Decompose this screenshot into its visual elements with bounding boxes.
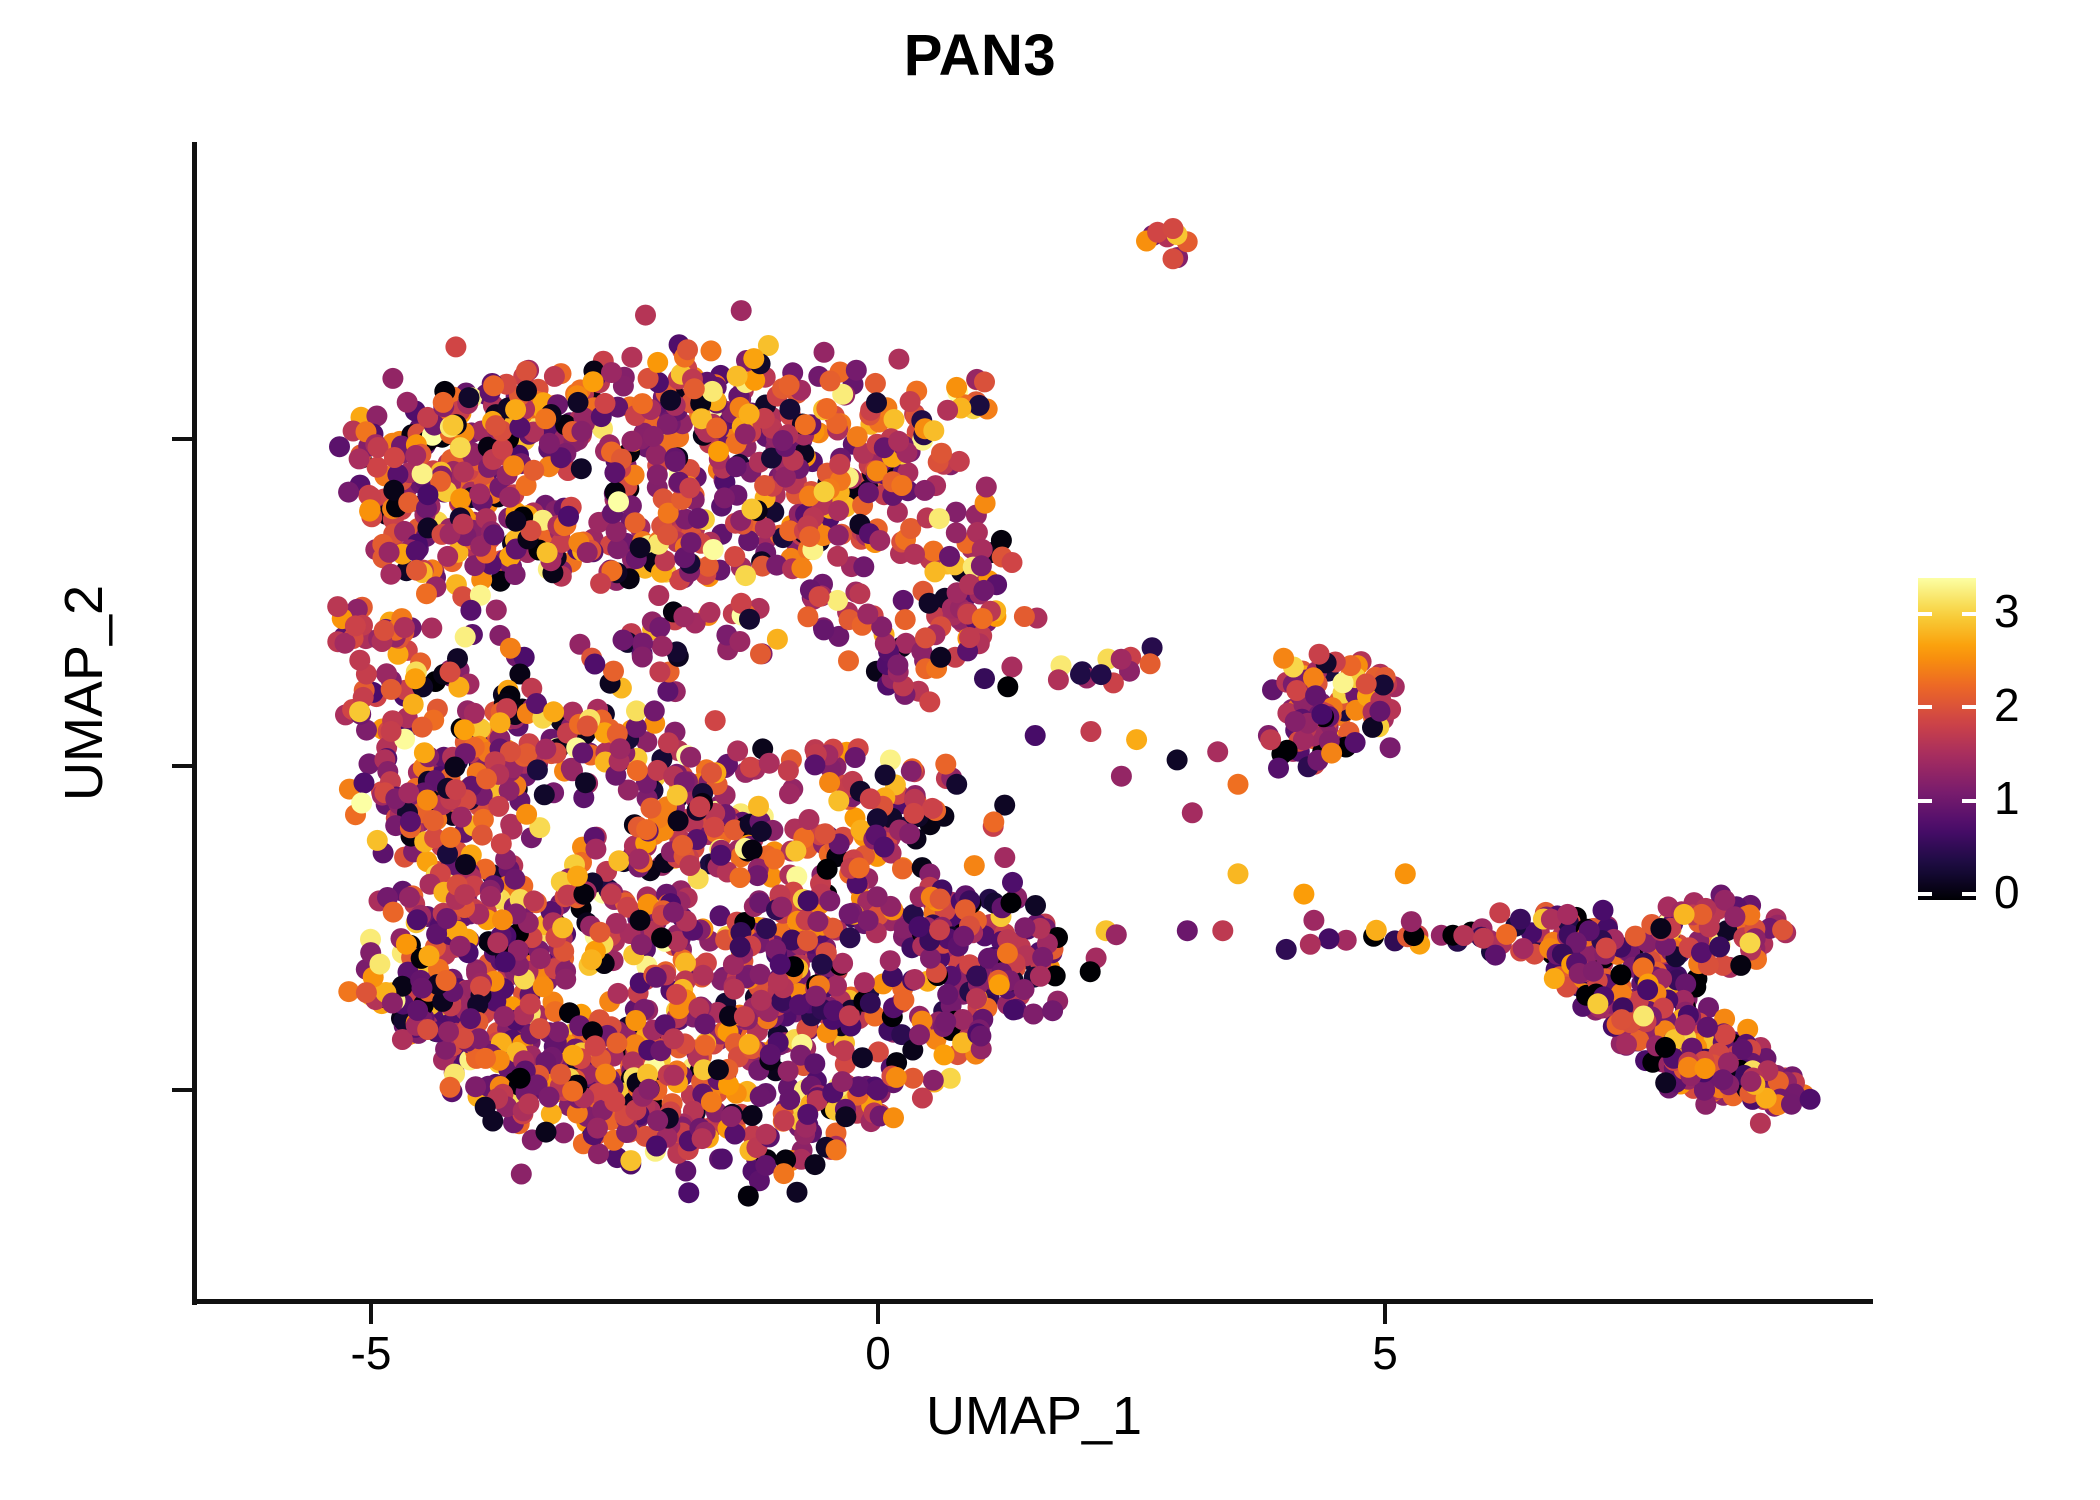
scatter-point [572, 742, 593, 763]
scatter-point [647, 352, 668, 373]
scatter-point [966, 988, 987, 1009]
scatter-point [812, 954, 833, 975]
scatter-point [470, 976, 491, 997]
scatter-point [797, 930, 818, 951]
scatter-point [407, 1000, 428, 1021]
scatter-point [349, 701, 370, 722]
colorbar-tick-0-right [1962, 892, 1976, 896]
scatter-point [646, 444, 667, 465]
scatter-point [1293, 884, 1314, 905]
scatter-point [417, 484, 438, 505]
scatter-point [816, 398, 837, 419]
scatter-point [829, 454, 850, 475]
scatter-point [1674, 904, 1695, 925]
scatter-point [840, 927, 861, 948]
scatter-point [708, 1059, 729, 1080]
scatter-point [460, 1008, 481, 1029]
scatter-point [374, 620, 395, 641]
scatter-point [791, 558, 812, 579]
scatter-point [577, 542, 598, 563]
scatter-point [724, 979, 745, 1000]
scatter-point [702, 381, 723, 402]
scatter-point [1048, 669, 1069, 690]
scatter-point [536, 1122, 557, 1143]
scatter-point [930, 889, 951, 910]
x-axis-title: UMAP_1 [195, 1385, 1873, 1447]
scatter-point [1655, 1072, 1676, 1093]
scatter-point [924, 561, 945, 582]
chart-root: PAN3 4 0 -4 -5 0 5 UMAP_1 UMAP_2 3 2 1 0 [0, 0, 2100, 1500]
scatter-point [1025, 725, 1046, 746]
scatter-point [923, 1070, 944, 1091]
scatter-point [764, 849, 785, 870]
scatter-point [974, 371, 995, 392]
scatter-point [742, 840, 763, 861]
scatter-point [964, 855, 985, 876]
scatter-point [558, 506, 579, 527]
y-tick-mark-neg4 [172, 1088, 192, 1092]
scatter-point [692, 1128, 713, 1149]
scatter-point [664, 1065, 685, 1086]
scatter-point [1544, 968, 1565, 989]
scatter-point [912, 1088, 933, 1109]
scatter-point [575, 772, 596, 793]
scatter-point [396, 934, 417, 955]
scatter-point [1695, 1058, 1716, 1079]
scatter-point [807, 911, 828, 932]
scatter-point [568, 392, 589, 413]
scatter-point [383, 902, 404, 923]
scatter-point [649, 661, 670, 682]
scatter-point [946, 522, 967, 543]
scatter-point [827, 590, 848, 611]
scatter-point [1633, 1006, 1654, 1027]
scatter-point [739, 1034, 760, 1055]
scatter-point [601, 884, 622, 905]
scatter-point [798, 890, 819, 911]
scatter-point [412, 463, 433, 484]
scatter-point [491, 833, 512, 854]
x-tick-mark-5 [1383, 1304, 1387, 1324]
scatter-point [751, 821, 772, 842]
scatter-point [440, 662, 461, 683]
scatter-point [535, 408, 556, 429]
scatter-point [500, 638, 521, 659]
scatter-point [647, 464, 668, 485]
scatter-point [1212, 920, 1233, 941]
scatter-point [1750, 1113, 1771, 1134]
scatter-point [852, 1047, 873, 1068]
scatter-point [886, 1067, 907, 1088]
scatter-point [397, 392, 418, 413]
scatter-point [754, 475, 775, 496]
scatter-point [891, 475, 912, 496]
scatter-point [1228, 774, 1249, 795]
scatter-point [454, 884, 475, 905]
scatter-point [893, 590, 914, 611]
scatter-point [914, 480, 935, 501]
scatter-point [380, 564, 401, 585]
scatter-point [1177, 920, 1198, 941]
scatter-point [423, 810, 444, 831]
scatter-point [455, 854, 476, 875]
scatter-point [1163, 248, 1184, 269]
scatter-point [646, 967, 667, 988]
scatter-point [354, 773, 375, 794]
scatter-point [1285, 711, 1306, 732]
scatter-point [636, 819, 657, 840]
scatter-point [398, 782, 419, 803]
scatter-point [530, 948, 551, 969]
scatter-point [516, 380, 537, 401]
scatter-point [869, 530, 890, 551]
scatter-point [1593, 900, 1614, 921]
scatter-point [412, 717, 433, 738]
scatter-point [857, 604, 878, 625]
scatter-point [588, 1143, 609, 1164]
scatter-point [695, 1035, 716, 1056]
scatter-point [539, 1087, 560, 1108]
scatter-point [509, 417, 530, 438]
scatter-point [730, 867, 751, 888]
scatter-point [814, 342, 835, 363]
scatter-point [966, 966, 987, 987]
scatter-point [663, 902, 684, 923]
scatter-point [887, 655, 908, 676]
scatter-point [475, 1097, 496, 1118]
scatter-point [727, 366, 748, 387]
scatter-point [701, 762, 722, 783]
scatter-point [444, 757, 465, 778]
scatter-point [865, 373, 886, 394]
scatter-point [503, 455, 524, 476]
scatter-point [499, 487, 520, 508]
scatter-point [805, 986, 826, 1007]
scatter-point [937, 400, 958, 421]
scatter-point [1106, 924, 1127, 945]
scatter-point [867, 886, 888, 907]
scatter-point [1369, 701, 1390, 722]
scatter-point [417, 1019, 438, 1040]
scatter-point [731, 300, 752, 321]
scatter-point [567, 866, 588, 887]
scatter-point [1596, 938, 1617, 959]
scatter-point [827, 546, 848, 567]
scatter-point [589, 922, 610, 943]
scatter-point [970, 1026, 991, 1047]
scatter-point [581, 949, 602, 970]
scatter-point [858, 910, 879, 931]
scatter-point [485, 415, 506, 436]
scatter-point [384, 447, 405, 468]
x-tick-label-0: 0 [798, 1330, 958, 1376]
scatter-point [440, 827, 461, 848]
scatter-point [487, 932, 508, 953]
scatter-point [606, 521, 627, 542]
scatter-point [684, 378, 705, 399]
scatter-point [714, 487, 735, 508]
scatter-point [989, 974, 1010, 995]
scatter-point [739, 609, 760, 630]
scatter-point [1025, 895, 1046, 916]
scatter-point [785, 841, 806, 862]
scatter-point [1557, 904, 1578, 925]
scatter-point [625, 512, 646, 533]
scatter-point [1675, 1014, 1696, 1035]
scatter-point [643, 426, 664, 447]
scatter-point [1276, 939, 1297, 960]
scatter-point [455, 627, 476, 648]
scatter-point [1616, 1034, 1637, 1055]
scatter-point [1014, 979, 1035, 1000]
scatter-point [627, 760, 648, 781]
scatter-point [880, 950, 901, 971]
scatter-point [438, 1021, 459, 1042]
y-axis-title: UMAP_2 [53, 343, 115, 1043]
scatter-point [606, 1033, 627, 1054]
scatter-point [740, 757, 761, 778]
scatter-point [412, 978, 433, 999]
scatter-point [1163, 218, 1184, 239]
scatter-point [884, 409, 905, 430]
scatter-point [516, 804, 537, 825]
scatter-point [608, 983, 629, 1004]
colorbar-label-1: 1 [1994, 775, 2020, 821]
scatter-point [693, 965, 714, 986]
scatter-point [421, 618, 442, 639]
colorbar-tick-0-left [1918, 892, 1932, 896]
scatter-point [1030, 966, 1051, 987]
scatter-point [888, 349, 909, 370]
scatter-point [1401, 911, 1422, 932]
scatter-point [621, 347, 642, 368]
scatter-point [814, 481, 835, 502]
scatter-point [804, 1053, 825, 1074]
scatter-point [1167, 749, 1188, 770]
scatter-point [750, 1086, 771, 1107]
scatter-point [660, 390, 681, 411]
scatter-point [901, 761, 922, 782]
scatter-point [631, 934, 652, 955]
scatter-point [583, 371, 604, 392]
scatter-point [1473, 928, 1494, 949]
scatter-point [739, 403, 760, 424]
scatter-point [751, 990, 772, 1011]
scatter-point [511, 1164, 532, 1185]
scatter-point [701, 1092, 722, 1113]
scatter-point [1001, 892, 1022, 913]
scatter-point [436, 908, 457, 929]
scatter-point [1207, 741, 1228, 762]
scatter-point [819, 890, 840, 911]
scatter-point [915, 627, 936, 648]
scatter-point [585, 839, 606, 860]
scatter-point [379, 542, 400, 563]
scatter-point [403, 694, 424, 715]
scatter-point [349, 650, 370, 671]
scatter-point [483, 375, 504, 396]
scatter-point [935, 754, 956, 775]
y-axis-line [192, 142, 197, 1305]
scatter-point [797, 1104, 818, 1125]
scatter-point [748, 796, 769, 817]
scatter-point [847, 426, 868, 447]
scatter-point [1485, 945, 1506, 966]
scatter-point [351, 793, 372, 814]
scatter-point [909, 916, 930, 937]
scatter-point [608, 491, 629, 512]
scatter-point [849, 583, 870, 604]
scatter-point [585, 1035, 606, 1056]
scatter-point [700, 602, 721, 623]
scatter-point [625, 1010, 646, 1031]
scatter-point [416, 583, 437, 604]
scatter-point [779, 399, 800, 420]
scatter-point [451, 807, 472, 828]
scatter-point [1709, 936, 1730, 957]
scatter-point [445, 336, 466, 357]
scatter-point [819, 772, 840, 793]
scatter-point [465, 1076, 486, 1097]
scatter-point [406, 560, 427, 581]
scatter-points-group [327, 218, 1820, 1207]
scatter-point [651, 927, 672, 948]
scatter-point [646, 1136, 667, 1157]
scatter-point [838, 650, 859, 671]
scatter-point [630, 910, 651, 931]
scatter-point [610, 738, 631, 759]
scatter-point [922, 798, 943, 819]
scatter-point [504, 869, 525, 890]
scatter-point [735, 424, 756, 445]
scatter-point [730, 937, 751, 958]
scatter-point [946, 377, 967, 398]
scatter-point [734, 1006, 755, 1027]
scatter-point [679, 855, 700, 876]
scatter-point [604, 1091, 625, 1112]
scatter-point [724, 546, 745, 567]
scatter-point [1395, 863, 1416, 884]
scatter-point [657, 681, 678, 702]
scatter-point [459, 387, 480, 408]
scatter-point [694, 1014, 715, 1035]
plot-panel [195, 142, 1873, 1302]
scatter-point [450, 488, 471, 509]
y-tick-mark-0 [172, 764, 192, 768]
colorbar-tick-1-right [1962, 799, 1976, 803]
scatter-point [527, 759, 548, 780]
page-title: PAN3 [0, 22, 1960, 89]
y-tick-mark-4 [172, 437, 192, 441]
scatter-point [815, 823, 836, 844]
scatter-point [1002, 872, 1023, 893]
scatter-point [994, 847, 1015, 868]
x-tick-label-neg5: -5 [291, 1330, 451, 1376]
scatter-point [1014, 917, 1035, 938]
scatter-point [779, 783, 800, 804]
scatter-point [406, 541, 427, 562]
scatter-point [1140, 653, 1161, 674]
scatter-point [834, 1040, 855, 1061]
scatter-point [1610, 964, 1631, 985]
scatter-point [419, 945, 440, 966]
scatter-point [1309, 644, 1330, 665]
scatter-point [555, 969, 576, 990]
scatter-point [1014, 606, 1035, 627]
scatter-point [436, 970, 457, 991]
scatter-point [1305, 685, 1326, 706]
scatter-point [445, 779, 466, 800]
colorbar-tick-3-left [1918, 612, 1932, 616]
scatter-point [483, 524, 504, 545]
scatter-point [539, 433, 560, 454]
scatter-point [997, 676, 1018, 697]
scatter-point [668, 810, 689, 831]
scatter-point [381, 679, 402, 700]
x-tick-mark-0 [876, 1304, 880, 1324]
scatter-point [756, 918, 777, 939]
scatter-point [1268, 758, 1289, 779]
scatter-point [405, 445, 426, 466]
x-tick-mark-neg5 [369, 1304, 373, 1324]
scatter-point [1311, 704, 1332, 725]
scatter-point [755, 1155, 776, 1176]
scatter-point [1091, 664, 1112, 685]
scatter-point [935, 1011, 956, 1032]
scatter-point [893, 990, 914, 1011]
colorbar-label-0: 0 [1994, 869, 2020, 915]
scatter-point [1741, 1071, 1762, 1092]
scatter-point [1691, 942, 1712, 963]
scatter-point [1303, 667, 1324, 688]
scatter-point [828, 525, 849, 546]
scatter-point [571, 421, 592, 442]
scatter-point [601, 362, 622, 383]
scatter-point [741, 499, 762, 520]
scatter-point [778, 760, 799, 781]
scatter-point [770, 954, 791, 975]
scatter-point [356, 982, 377, 1003]
scatter-point [832, 1071, 853, 1092]
scatter-point [595, 393, 616, 414]
scatter-point [398, 492, 419, 513]
scatter-point [407, 909, 428, 930]
colorbar-tick-3-right [1962, 612, 1976, 616]
scatter-point [675, 953, 696, 974]
scatter-point [888, 431, 909, 452]
scatter-plot [195, 142, 1873, 1302]
scatter-point [1228, 863, 1249, 884]
scatter-point [839, 903, 860, 924]
scatter-point [923, 420, 944, 441]
scatter-point [778, 1061, 799, 1082]
scatter-point [895, 609, 916, 630]
scatter-point [680, 747, 701, 768]
scatter-point [534, 784, 555, 805]
scatter-point [1496, 924, 1517, 945]
scatter-point [727, 740, 748, 761]
scatter-point [820, 370, 841, 391]
scatter-point [817, 859, 838, 880]
scatter-point [799, 809, 820, 830]
scatter-point [854, 972, 875, 993]
scatter-point [809, 586, 830, 607]
scatter-point [688, 508, 709, 529]
scatter-point [510, 1068, 531, 1089]
scatter-point [1724, 906, 1745, 927]
scatter-point [724, 1124, 745, 1145]
scatter-point [797, 606, 818, 627]
